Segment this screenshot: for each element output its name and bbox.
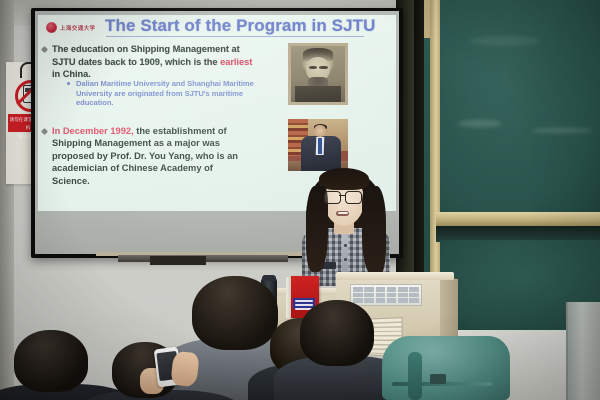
historical-portrait-image bbox=[288, 43, 348, 105]
shirt-button bbox=[344, 244, 347, 247]
portrait2-face bbox=[314, 125, 326, 136]
glasses-lens-left bbox=[324, 191, 341, 204]
backpack bbox=[382, 336, 510, 400]
glasses-lens-right bbox=[345, 191, 362, 204]
presenter bbox=[300, 166, 392, 286]
presenter-hair-right bbox=[362, 186, 386, 276]
backpack-strap bbox=[408, 352, 422, 400]
bullet-1-part-b: in China. bbox=[52, 69, 91, 79]
portrait-eye-right bbox=[319, 66, 328, 69]
slide-sub-bullet-1: Dalian Maritime University and Shanghai … bbox=[76, 79, 256, 108]
title-underline bbox=[106, 36, 364, 37]
chalkboard-upper-panel bbox=[440, 0, 600, 212]
bullet-1-text: The education on Shipping Management at … bbox=[52, 43, 258, 81]
slide-bullet-2: In December 1992, the establishment of S… bbox=[52, 125, 252, 187]
sub-bullet-1-text: Dalian Maritime University and Shanghai … bbox=[76, 79, 256, 108]
classroom-photo: 请勿在课堂使用手机 进入考场 上海交通大学 The Start of the P… bbox=[0, 0, 600, 400]
presenter-hair-fringe bbox=[319, 168, 369, 190]
slide-title: The Start of the Program in SJTU bbox=[105, 16, 376, 36]
bullet-2-highlight: In December 1992, bbox=[52, 126, 134, 136]
bullet-marker-icon bbox=[41, 46, 48, 53]
portrait-body bbox=[295, 86, 340, 102]
slide-bullet-1: The education on Shipping Management at … bbox=[52, 43, 258, 81]
sub-bullet-marker-icon bbox=[67, 82, 70, 85]
student-4-head bbox=[300, 300, 374, 366]
bullet-1-highlight: earliest bbox=[220, 57, 252, 67]
lectern-side-panel bbox=[440, 277, 458, 341]
professor-portrait-image bbox=[288, 119, 348, 171]
chalk-tray bbox=[436, 212, 600, 226]
student-4 bbox=[286, 300, 390, 400]
screen-mount-block bbox=[150, 256, 206, 265]
bullet-marker-icon bbox=[41, 128, 48, 135]
glasses-bridge bbox=[339, 195, 345, 196]
backpack-buckle bbox=[430, 374, 446, 384]
shirt-button bbox=[344, 258, 347, 261]
bullet-2-text: In December 1992, the establishment of S… bbox=[52, 125, 252, 187]
university-name-cn: 上海交通大学 bbox=[60, 24, 95, 32]
portrait-eye-left bbox=[309, 66, 318, 69]
university-logo: 上海交通大学 bbox=[46, 22, 95, 33]
wall-electrical-panel bbox=[566, 302, 600, 400]
bullet-1-part-a: The education on Shipping Management at … bbox=[52, 44, 240, 67]
lectern-top-surface bbox=[336, 272, 454, 280]
sjtu-seal-icon bbox=[46, 22, 57, 33]
student-1-head bbox=[14, 330, 88, 392]
portrait2-tie bbox=[318, 138, 322, 154]
